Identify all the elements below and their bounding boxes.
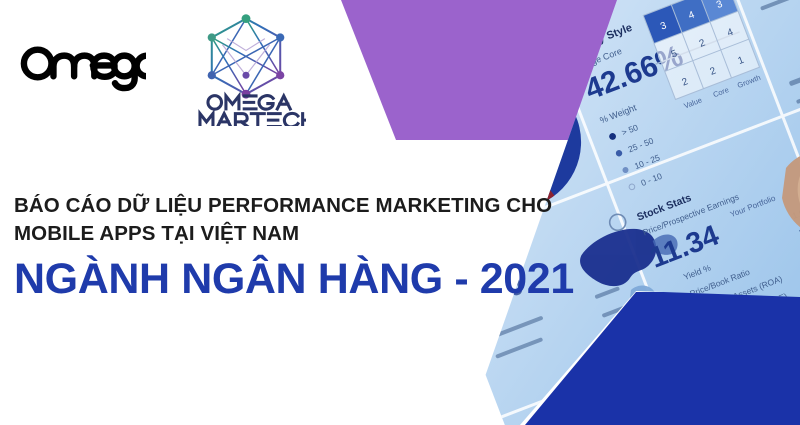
- headline-block: BÁO CÁO DỮ LIỆU PERFORMANCE MARKETING CH…: [14, 192, 574, 302]
- report-main-title: NGÀNH NGÂN HÀNG - 2021: [14, 256, 574, 302]
- omega-martech-wordmark: [200, 96, 306, 126]
- report-subtitle-line-1: BÁO CÁO DỮ LIỆU PERFORMANCE MARKETING CH…: [14, 192, 574, 220]
- omega-martech-logo: [186, 8, 306, 126]
- omega-logo: [18, 32, 146, 94]
- report-subtitle-line-2: MOBILE APPS TẠI VIỆT NAM: [14, 220, 574, 248]
- hexagon-network-mark: [208, 14, 285, 98]
- presentation-slide: 1.90 36.51% Equity Style Large Core 42.6…: [0, 0, 800, 425]
